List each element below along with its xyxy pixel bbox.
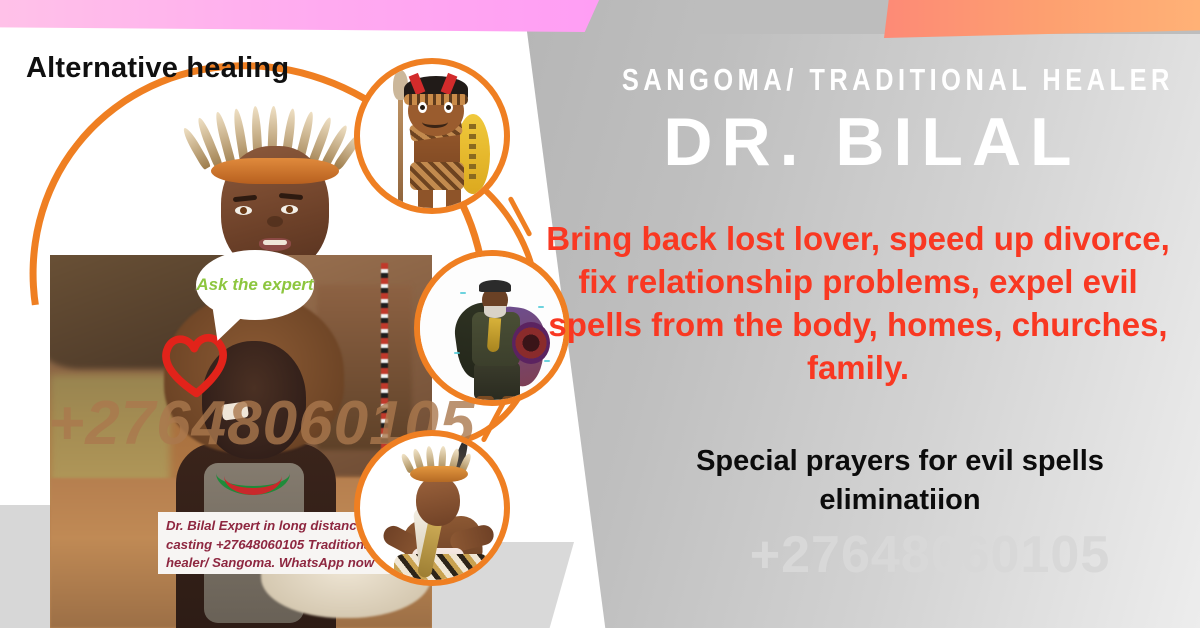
portrait-eye-right: [281, 205, 298, 214]
dancer-head: [416, 476, 460, 526]
services-text: Bring back lost lover, speed up divorce,…: [543, 218, 1173, 390]
warrior-smile: [422, 116, 448, 128]
grey-bottom-left-rect: [0, 505, 52, 628]
portrait-mouth: [259, 238, 291, 251]
dancer-crown: [410, 466, 468, 482]
portrait-nose: [267, 216, 283, 227]
portrait-eye-left: [235, 206, 252, 215]
alternative-healing-label: Alternative healing: [26, 52, 289, 85]
speech-bubble-text: Ask the expert: [196, 276, 313, 294]
sparkle-1: [460, 292, 466, 294]
special-prayers-text: Special prayers for evil spells eliminat…: [620, 442, 1180, 520]
warrior-leg-left: [418, 188, 433, 214]
warrior-skirt: [410, 162, 464, 190]
warrior-eye-right: [444, 102, 453, 113]
poster-canvas: Alternative healing: [0, 0, 1200, 628]
warrior-eye-left: [418, 102, 427, 113]
red-necklace: [224, 457, 282, 495]
healer-hat: [479, 280, 511, 292]
circle-crouching-dancer[interactable]: [354, 430, 510, 586]
healer-legs: [474, 362, 520, 400]
circle-zulu-warrior[interactable]: [354, 58, 510, 214]
sparkle-3: [454, 352, 460, 354]
page-title: DR. BILAL: [567, 107, 1177, 178]
speech-bubble: Ask the expert: [196, 250, 314, 320]
warrior-headband: [404, 94, 468, 105]
kicker-text: SANGOMA/ TRADITIONAL HEALER: [622, 62, 1122, 98]
top-pink-bar: [0, 0, 600, 32]
healer-beard: [484, 306, 506, 318]
portrait-crown-band: [211, 158, 339, 184]
phone-watermark: +27648060105: [660, 525, 1200, 585]
healer-tie: [487, 318, 501, 353]
healer-shoe-left: [476, 396, 494, 404]
